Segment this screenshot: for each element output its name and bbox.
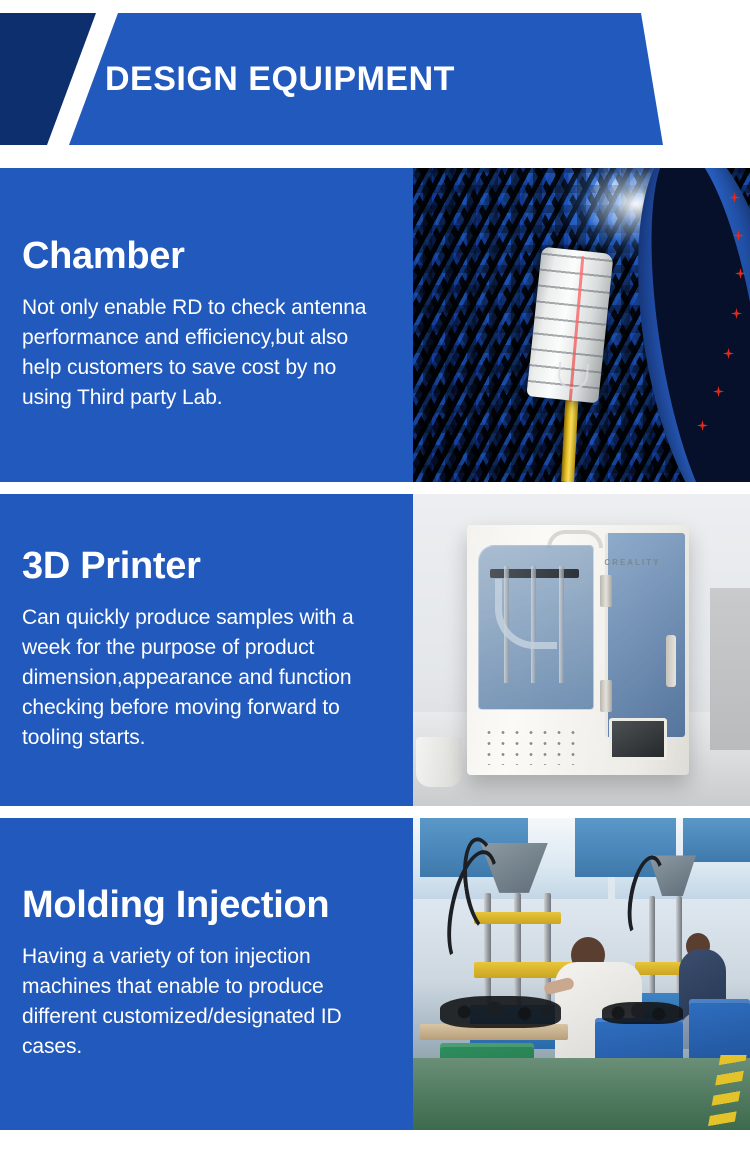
chamber-title: Chamber (22, 237, 387, 277)
printer-image: CREALITY (413, 494, 750, 806)
molded-parts-pile (602, 1002, 683, 1024)
molded-parts-pile (440, 996, 561, 1028)
printer-title: 3D Printer (22, 547, 387, 587)
anechoic-chamber-photo (413, 168, 750, 482)
window-curtain (683, 818, 750, 862)
background-wall-panel (710, 588, 750, 750)
molding-text-pane: Molding Injection Having a variety of to… (0, 818, 413, 1130)
design-equipment-page: DESIGN EQUIPMENT Chamber Not only enable… (0, 0, 750, 1162)
molding-description: Having a variety of ton injection machin… (22, 942, 387, 1062)
injection-molding-photo (413, 818, 750, 1130)
printer-front-window (478, 545, 594, 710)
page-header-banner: DESIGN EQUIPMENT (0, 13, 750, 145)
chamber-text-pane: Chamber Not only enable RD to check ante… (0, 168, 413, 482)
printer-text-pane: 3D Printer Can quickly produce samples w… (0, 494, 413, 806)
printer-description: Can quickly produce samples with a week … (22, 603, 387, 753)
printer-door-handle (666, 635, 676, 687)
printer-vent-holes (482, 727, 584, 765)
feature-card-3d-printer: 3D Printer Can quickly produce samples w… (0, 494, 750, 806)
chamber-image (413, 168, 750, 482)
printer-brand-label: CREALITY (604, 558, 660, 567)
printer-touchscreen[interactable] (609, 718, 667, 760)
feature-card-chamber: Chamber Not only enable RD to check ante… (0, 168, 750, 482)
printer-z-rail (559, 566, 564, 683)
molding-title: Molding Injection (22, 886, 387, 926)
printer-enclosure: CREALITY (467, 525, 689, 775)
workshop-floor (413, 1058, 750, 1130)
chamber-description: Not only enable RD to check antenna perf… (22, 293, 387, 413)
3d-printer-photo: CREALITY (413, 494, 750, 806)
desk-cup (416, 737, 462, 787)
printer-hinge-lower (600, 680, 612, 712)
molding-image (413, 818, 750, 1130)
printer-hinge-upper (600, 575, 612, 607)
page-title: DESIGN EQUIPMENT (105, 13, 455, 145)
feature-card-molding-injection: Molding Injection Having a variety of to… (0, 818, 750, 1130)
